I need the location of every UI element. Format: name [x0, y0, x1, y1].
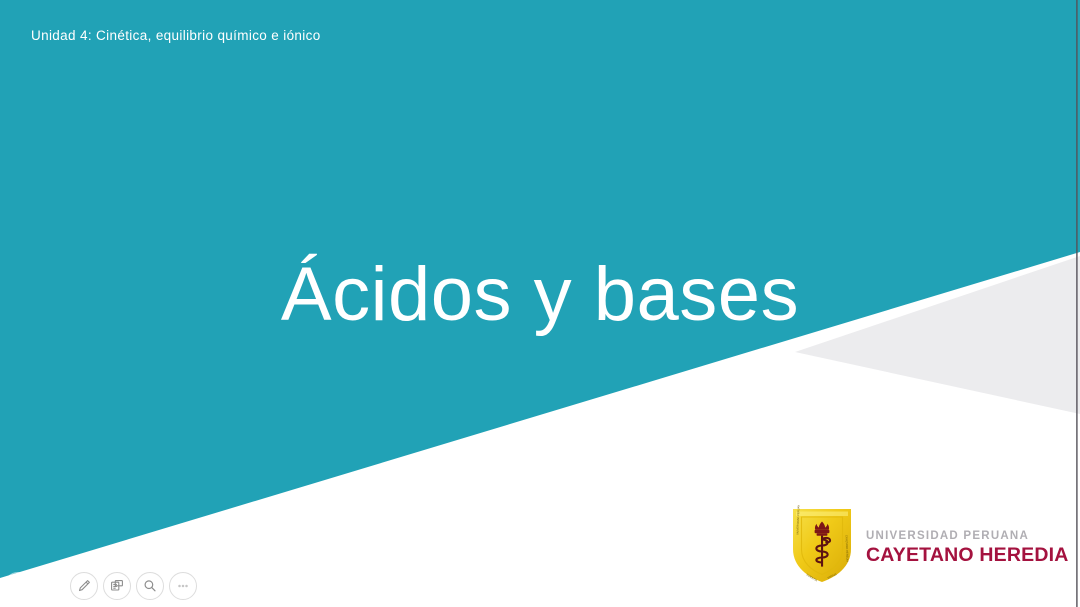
- triangle-right-icon: [45, 580, 57, 592]
- slides-icon: [109, 578, 125, 594]
- zoom-button[interactable]: [136, 572, 164, 600]
- university-logo: UNIVERSIDAD PERUANA CAYETANO HEREDIA SCI…: [789, 504, 1057, 586]
- slide-canvas: Unidad 4: Cinética, equilibrio químico e…: [0, 0, 1080, 607]
- next-slide-button[interactable]: [37, 572, 65, 600]
- logo-institution-line-2: CAYETANO HEREDIA: [866, 544, 1069, 567]
- triangle-left-icon: [12, 580, 24, 592]
- slide-header-text: Unidad 4: Cinética, equilibrio químico e…: [31, 28, 321, 43]
- pen-tool-button[interactable]: [70, 572, 98, 600]
- logo-institution-line-1: UNIVERSIDAD PERUANA: [866, 529, 1069, 543]
- pen-icon: [76, 578, 92, 594]
- logo-wordmark: UNIVERSIDAD PERUANA CAYETANO HEREDIA: [866, 523, 1069, 566]
- previous-slide-button[interactable]: [4, 572, 32, 600]
- page-title: Ácidos y bases: [0, 255, 1080, 334]
- more-options-button[interactable]: [169, 572, 197, 600]
- magnifier-icon: [142, 578, 158, 594]
- shield-icon: UNIVERSIDAD PERUANA CAYETANO HEREDIA SCI…: [789, 505, 855, 585]
- slide-menu-button[interactable]: [103, 572, 131, 600]
- presentation-toolbar: [4, 569, 197, 603]
- ellipsis-icon: [175, 578, 191, 594]
